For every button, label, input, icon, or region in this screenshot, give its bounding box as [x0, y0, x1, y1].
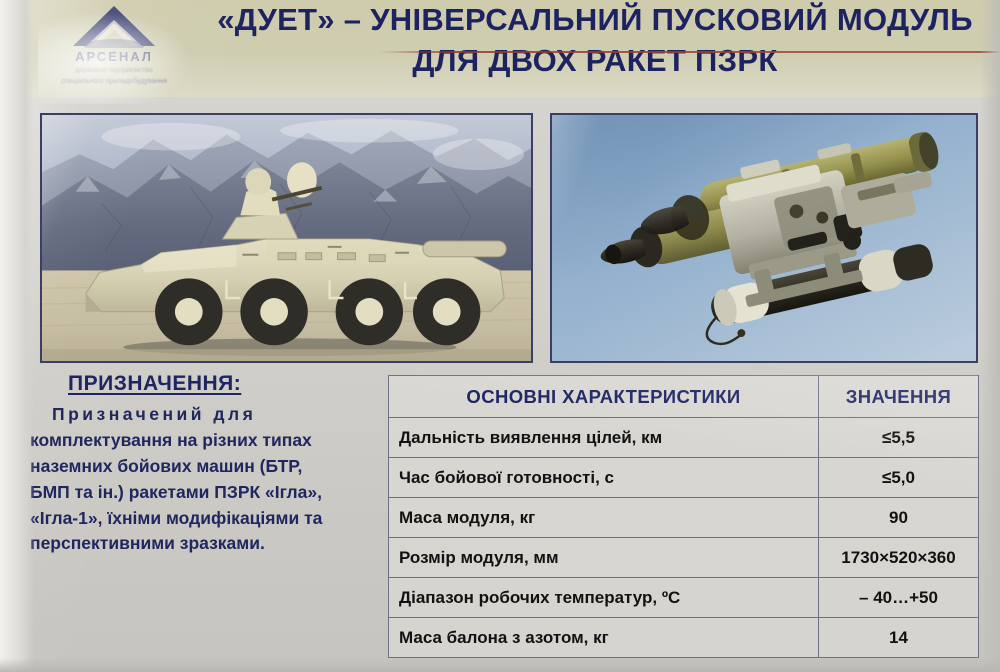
- spec-name: Розмір модуля, мм: [389, 538, 819, 578]
- poster-left-edge: [0, 0, 34, 672]
- purpose-heading: ПРИЗНАЧЕННЯ:: [30, 372, 380, 396]
- title-divider-rule: [380, 51, 1000, 53]
- spec-value: 14: [819, 618, 979, 658]
- spec-name: Маса балона з азотом, кг: [389, 618, 819, 658]
- purpose-line-4: БМП та ін.) ракетами ПЗРК «Ігла»,: [30, 480, 380, 506]
- purpose-line-2: комплектування на різних типах: [30, 428, 380, 454]
- column-header-values: ЗНАЧЕННЯ: [819, 376, 979, 418]
- purpose-line-3: наземних бойових машин (БТР,: [30, 454, 380, 480]
- purpose-body: Призначений для комплектування на різних…: [30, 402, 380, 557]
- arsenal-logo-wordmark: АРСЕНАЛ: [52, 49, 176, 64]
- spec-name: Час бойової готовності, с: [389, 458, 819, 498]
- arsenal-logo-subtitle-1: державне підприємство: [52, 66, 176, 75]
- table-row: Маса балона з азотом, кг 14: [389, 618, 979, 658]
- spec-value: ≤5,0: [819, 458, 979, 498]
- purpose-section: ПРИЗНАЧЕННЯ: Призначений для комплектува…: [30, 372, 380, 557]
- arsenal-logo-subtitle-2: спеціального приладобудування: [52, 77, 176, 86]
- spec-value: ≤5,5: [819, 418, 979, 458]
- page-title: «ДУЕТ» – УНІВЕРСАЛЬНИЙ ПУСКОВИЙ МОДУЛЬ Д…: [200, 4, 990, 77]
- table-row: Час бойової готовності, с ≤5,0: [389, 458, 979, 498]
- arsenal-logo: АРСЕНАЛ державне підприємство спеціально…: [52, 4, 176, 96]
- arsenal-triangle-icon: [55, 4, 173, 48]
- purpose-line-1: Призначений для: [30, 402, 380, 428]
- table-header-row: ОСНОВНІ ХАРАКТЕРИСТИКИ ЗНАЧЕННЯ: [389, 376, 979, 418]
- table-row: Діапазон робочих температур, ºС – 40…+50: [389, 578, 979, 618]
- photo-launch-module: [550, 113, 978, 363]
- poster-bottom-edge: [0, 658, 1000, 672]
- specifications-table: ОСНОВНІ ХАРАКТЕРИСТИКИ ЗНАЧЕННЯ Дальніст…: [388, 375, 979, 658]
- spec-name: Дальність виявлення цілей, км: [389, 418, 819, 458]
- purpose-line-6: перспективними зразками.: [30, 531, 380, 557]
- poster-right-edge: [980, 0, 1000, 672]
- photo-armored-vehicle: [40, 113, 533, 363]
- spec-value: 1730×520×360: [819, 538, 979, 578]
- table-row: Маса модуля, кг 90: [389, 498, 979, 538]
- poster-root: «ДУЕТ» – УНІВЕРСАЛЬНИЙ ПУСКОВИЙ МОДУЛЬ Д…: [0, 0, 1000, 672]
- title-line-2: ДЛЯ ДВОХ РАКЕТ ПЗРК: [200, 45, 990, 78]
- title-line-1: «ДУЕТ» – УНІВЕРСАЛЬНИЙ ПУСКОВИЙ МОДУЛЬ: [200, 4, 990, 37]
- table-body: Дальність виявлення цілей, км ≤5,5 Час б…: [389, 418, 979, 658]
- spec-value: 90: [819, 498, 979, 538]
- spec-name: Маса модуля, кг: [389, 498, 819, 538]
- spec-value: – 40…+50: [819, 578, 979, 618]
- table-row: Розмір модуля, мм 1730×520×360: [389, 538, 979, 578]
- spec-name: Діапазон робочих температур, ºС: [389, 578, 819, 618]
- purpose-line-5: «Ігла-1», їхніми модифікаціями та: [30, 506, 380, 532]
- table-row: Дальність виявлення цілей, км ≤5,5: [389, 418, 979, 458]
- column-header-characteristics: ОСНОВНІ ХАРАКТЕРИСТИКИ: [389, 376, 819, 418]
